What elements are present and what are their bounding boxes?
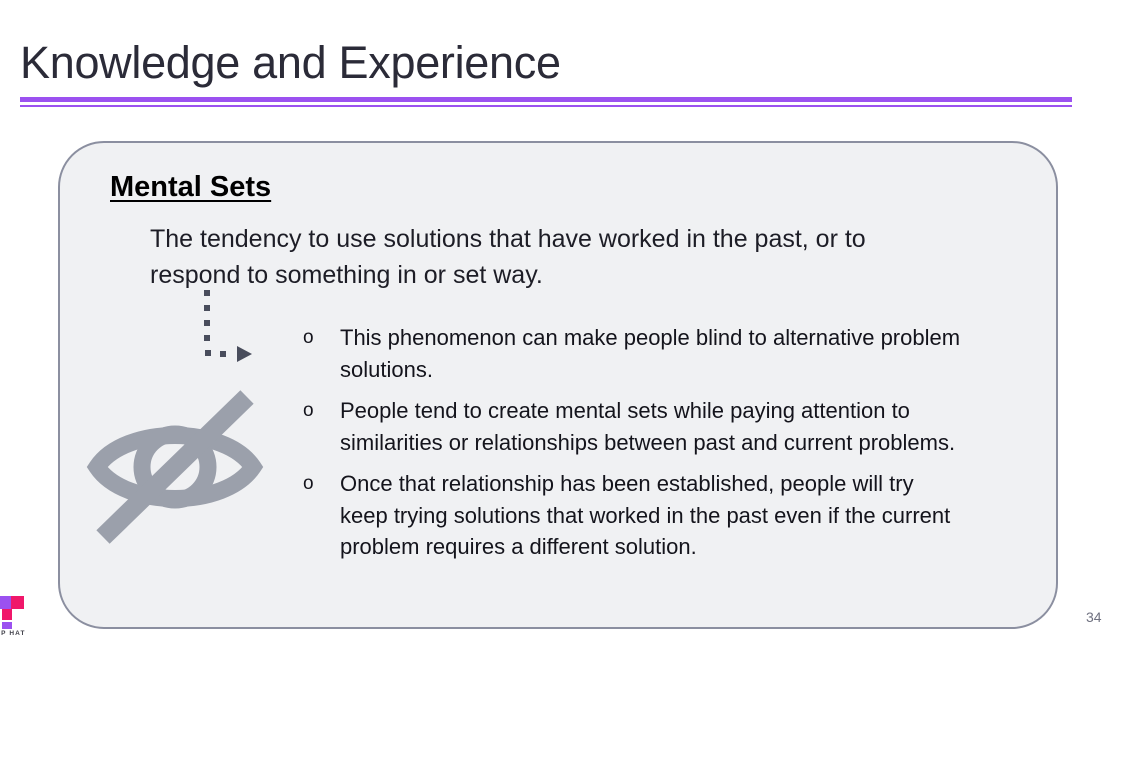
list-item: o People tend to create mental sets whil…: [300, 395, 965, 458]
list-item-text: Once that relationship has been establis…: [340, 471, 950, 559]
bullet-marker: o: [303, 395, 314, 427]
logo-square-magenta: [11, 596, 24, 609]
list-item-text: People tend to create mental sets while …: [340, 398, 955, 455]
list-item-text: This phenomenon can make people blind to…: [340, 325, 960, 382]
bullet-marker: o: [303, 322, 314, 354]
list-item: o This phenomenon can make people blind …: [300, 322, 965, 385]
logo-wordmark: TOP HAT: [0, 630, 26, 637]
page-number: 34: [1086, 609, 1102, 625]
eye-slash-icon: [85, 385, 265, 550]
bullet-marker: o: [303, 468, 314, 500]
bullet-list: o This phenomenon can make people blind …: [300, 322, 965, 573]
list-item: o Once that relationship has been establ…: [300, 468, 965, 563]
logo-bar-purple: [0, 596, 11, 609]
logo-stem-magenta: [2, 609, 12, 620]
dotted-arrow-icon: [196, 290, 266, 368]
accent-rule-thin: [20, 105, 1072, 107]
accent-rule-thick: [20, 97, 1072, 102]
title-accent-rule: [20, 97, 1072, 108]
page-title: Knowledge and Experience: [20, 34, 561, 92]
card-heading: Mental Sets: [110, 169, 271, 205]
brand-logo: TOP HAT: [0, 594, 37, 642]
logo-square-purple: [2, 622, 12, 629]
card-definition-text: The tendency to use solutions that have …: [150, 221, 960, 293]
